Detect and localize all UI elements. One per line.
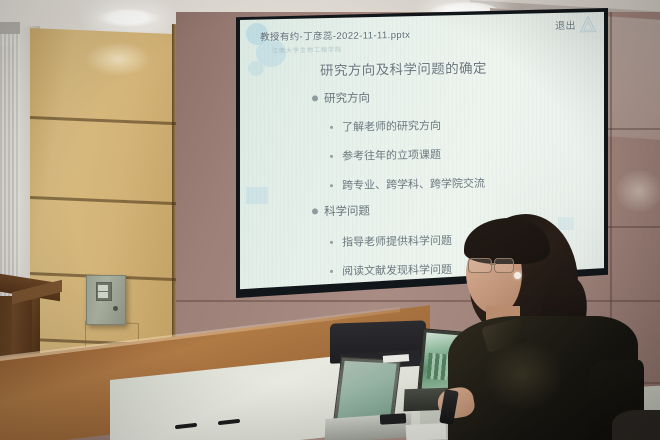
glasses-bridge (490, 263, 496, 265)
slide-section-heading-2: 科学问题 (312, 203, 370, 220)
earring (514, 272, 521, 279)
foreground-dark-object (612, 410, 660, 440)
section-heading-text: 科学问题 (324, 203, 370, 220)
glasses-lens-left (468, 258, 492, 273)
presentation-room-photo: 教授有约-丁彦蕊-2022-11-11.pptx 江南大学生物工程学院 退出 研… (0, 0, 660, 440)
control-switch-lower[interactable] (98, 292, 108, 298)
electrical-control-box[interactable] (86, 275, 126, 325)
glasses-lens-right (494, 258, 514, 273)
section-heading-text: 研究方向 (324, 90, 370, 107)
exit-button[interactable]: 退出 (555, 17, 576, 32)
slide-bullet-2-1: 指导老师提供科学问题 (330, 232, 452, 250)
control-box-window (96, 282, 112, 301)
slide-bullet-2-2: 阅读文献发现科学问题 (330, 261, 452, 279)
bullet-dot-icon (312, 95, 318, 101)
phone-device[interactable] (380, 413, 406, 424)
pptx-filename-label: 教授有约-丁彦蕊-2022-11-11.pptx (260, 27, 410, 43)
bullet-text: 了解老师的研究方向 (342, 117, 441, 135)
slide-title: 研究方向及科学问题的确定 (320, 57, 487, 80)
ceiling-downlight-left (96, 9, 160, 28)
sub-bullet-dot-icon (330, 125, 333, 128)
slide-watermark: 江南大学生物工程学院 (272, 44, 342, 54)
sub-bullet-dot-icon (330, 269, 333, 272)
bullet-dot-icon (312, 208, 318, 214)
slide-bullet-1-2: 参考往年的立项课题 (330, 146, 441, 164)
control-switch-upper[interactable] (98, 285, 108, 291)
slide-section-heading-1: 研究方向 (312, 90, 370, 107)
bullet-text: 指导老师提供科学问题 (342, 232, 452, 250)
slide-bullet-1-1: 了解老师的研究方向 (330, 117, 441, 135)
sub-bullet-dot-icon (330, 240, 333, 243)
sub-bullet-dot-icon (330, 184, 333, 187)
bullet-text: 参考往年的立项课题 (342, 146, 441, 164)
decorative-rect-1 (246, 187, 268, 204)
blinds-headrail (0, 22, 20, 34)
wall-light-reflection (86, 42, 150, 76)
sub-bullet-dot-icon (330, 154, 333, 157)
bullet-text: 阅读文献发现科学问题 (342, 261, 452, 279)
wall-highlight-blob (616, 170, 660, 212)
school-logo-icon (578, 15, 598, 35)
presenter-person (438, 210, 660, 440)
bullet-text: 跨专业、跨学科、跨学院交流 (342, 175, 485, 193)
decorative-circle-3 (248, 61, 264, 76)
control-box-handle[interactable] (113, 306, 118, 311)
slide-bullet-1-3: 跨专业、跨学科、跨学院交流 (330, 175, 485, 193)
